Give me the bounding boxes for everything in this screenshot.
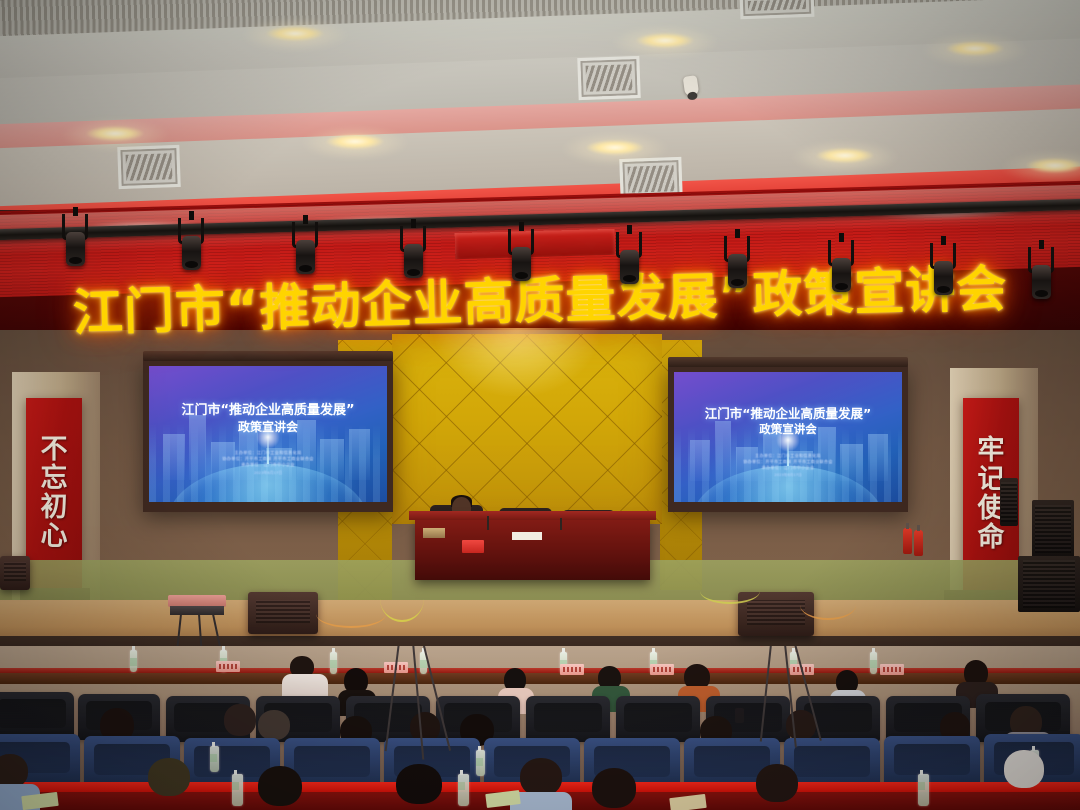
- ceiling-downlight: [946, 41, 1004, 56]
- attendee-head: [1004, 750, 1044, 788]
- pa-speaker-bottom: [1018, 556, 1080, 612]
- banner-char: 忘: [41, 465, 68, 492]
- audience-area: [0, 646, 1080, 810]
- stage-monitor-speaker: [0, 556, 30, 590]
- banner-char: 不: [41, 436, 68, 463]
- organizer-line: 承办单位：江门市中小企业: [149, 462, 387, 468]
- ceiling: [0, 0, 1080, 210]
- organizer-line: 承办单位：江门市中小企业: [674, 465, 902, 471]
- screen-roller-right: [668, 357, 908, 367]
- audience-seat: [526, 696, 610, 742]
- name-card: [650, 664, 674, 675]
- water-bottle: [918, 774, 929, 806]
- pa-speaker-top: [1032, 500, 1074, 558]
- banner-char: 心: [41, 523, 68, 550]
- slide-title-left: 江门市“推动企业高质量发展”: [149, 399, 387, 418]
- screen-roller-left: [143, 351, 393, 361]
- slide-right: 江门市“推动企业高质量发展” 政策宣讲会 主办单位：江门市工业和信息化局 协办单…: [674, 372, 902, 502]
- slide-subtitle-left: 政策宣讲会: [149, 418, 387, 435]
- table-laptop: [423, 528, 445, 538]
- projection-screen-left: 江门市“推动企业高质量发展” 政策宣讲会 主办单位：江门市工业和信息化局 协办单…: [143, 360, 393, 512]
- stage-gold-backdrop: [392, 334, 662, 524]
- hvac-diffuser: [740, 0, 815, 19]
- stage-cable: [800, 590, 856, 620]
- banner-char: 初: [41, 494, 68, 521]
- attendee-head: [148, 758, 190, 796]
- name-card: [560, 664, 584, 675]
- stage-cable: [380, 576, 424, 622]
- water-bottle: [210, 746, 219, 772]
- table-microphone: [560, 518, 562, 530]
- attendee-head: [592, 768, 636, 808]
- water-bottle: [870, 652, 877, 674]
- ceiling-downlight: [586, 140, 644, 155]
- water-bottle: [330, 652, 337, 674]
- audience-desk-row-1: [0, 672, 1080, 684]
- audience-seat: [616, 696, 700, 742]
- ceiling-downlight: [816, 148, 874, 163]
- conference-hall-photo: 江门市“推动企业高质量发展”政策宣讲会 江门市“推动企业高质量发展” 政策宣讲会…: [0, 0, 1080, 810]
- hvac-diffuser: [577, 56, 640, 100]
- banner-char: 牢: [978, 437, 1005, 464]
- stage-monitor-speaker: [248, 592, 318, 634]
- slide-organizers-left: 主办单位：江门市工业和信息化局 协办单位：开平市工商联 开平市工商业联合会 承办…: [149, 450, 387, 476]
- ceiling-downlight: [266, 26, 324, 41]
- ceiling-downlight: [326, 134, 384, 149]
- audience-seat: [0, 692, 74, 738]
- slide-organizers-right: 主办单位：江门市工业和信息化局 协办单位：开平市工商联 开平市工商业联合会 承办…: [674, 453, 902, 478]
- table-document: [512, 532, 542, 540]
- projection-screen-right: 江门市“推动企业高质量发展” 政策宣讲会 主办单位：江门市工业和信息化局 协办单…: [668, 366, 908, 512]
- water-bottle: [458, 774, 469, 806]
- audience-seat: [884, 736, 980, 786]
- slide-date-right: 2023年6月17日: [674, 473, 902, 478]
- slide-title-right: 江门市“推动企业高质量发展”: [674, 403, 902, 422]
- water-bottle: [130, 650, 137, 672]
- slide-left: 江门市“推动企业高质量发展” 政策宣讲会 主办单位：江门市工业和信息化局 协办单…: [149, 366, 387, 502]
- stage-cable: [700, 578, 760, 604]
- led-wall-center-box: [455, 229, 616, 259]
- ceiling-downlight: [1026, 158, 1080, 173]
- attendee-head: [258, 710, 290, 740]
- name-card: [216, 661, 240, 672]
- attendee-head: [520, 758, 562, 796]
- ceiling-downlight: [636, 33, 694, 48]
- speaker-nameplate: [462, 540, 484, 553]
- pa-speaker-side: [1000, 478, 1018, 526]
- ceiling-cctv-icon: [683, 75, 700, 97]
- attendee-head: [224, 704, 256, 736]
- slide-date-left: 2023年6月17日: [149, 470, 387, 476]
- water-bottle: [476, 750, 485, 776]
- fire-extinguisher: [914, 530, 923, 556]
- slide-subtitle-right: 政策宣讲会: [674, 421, 902, 437]
- name-card: [880, 664, 904, 675]
- attendee-head: [756, 764, 798, 802]
- attendee-head: [0, 754, 28, 788]
- ceiling-downlight: [86, 126, 144, 141]
- attendee-head: [258, 766, 302, 806]
- audience-desk-top-1: [0, 668, 1080, 673]
- audience-seat: [784, 738, 880, 788]
- head-table: [415, 518, 650, 580]
- head-table-edge: [409, 511, 656, 520]
- table-microphone: [487, 516, 489, 530]
- stage-cable: [316, 600, 386, 628]
- attendee-head: [396, 764, 442, 804]
- fire-extinguisher: [903, 528, 912, 554]
- smartphone: [735, 708, 744, 723]
- banner-char: 命: [978, 524, 1005, 551]
- water-bottle: [232, 774, 243, 806]
